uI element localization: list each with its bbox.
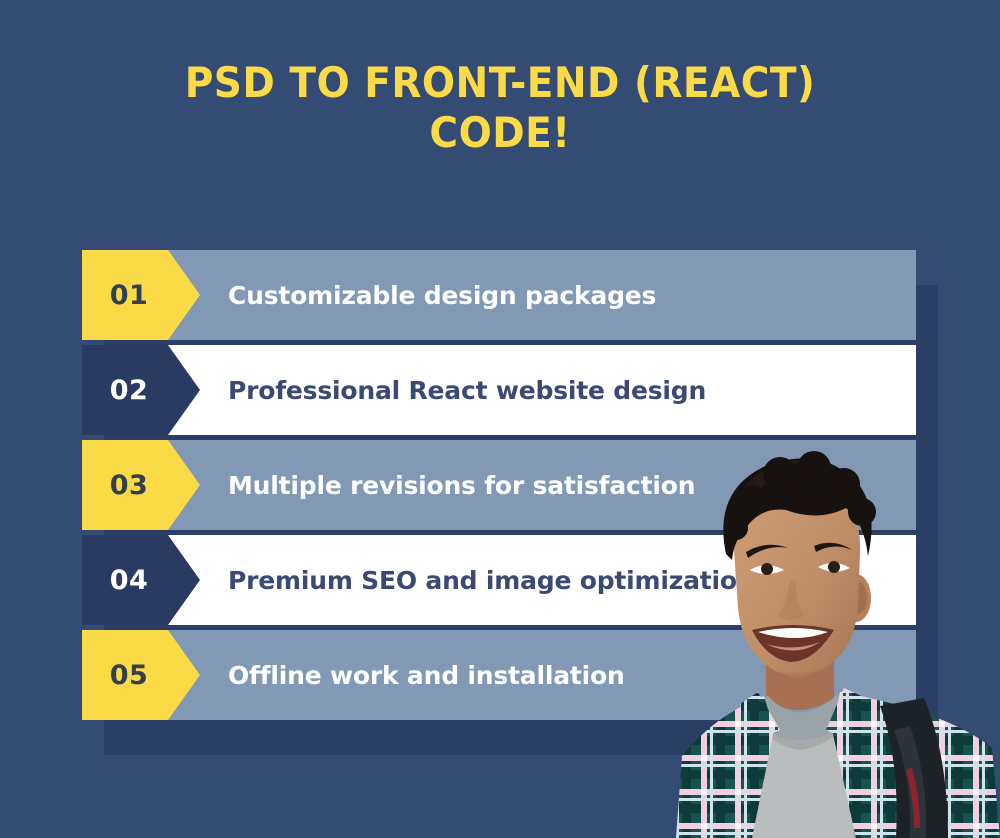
- list-item-label: Multiple revisions for satisfaction: [228, 471, 695, 500]
- list-item-label: Offline work and installation: [228, 661, 625, 690]
- list-item[interactable]: 04 Premium SEO and image optimization: [82, 535, 916, 625]
- list-item-number: 05: [110, 660, 149, 691]
- list-item-number: 03: [110, 470, 149, 501]
- list-item-label: Professional React website design: [228, 376, 706, 405]
- list-item-number: 02: [110, 375, 149, 406]
- infographic-poster: PSD TO FRONT-END (REACT) CODE! 01 Custom…: [0, 0, 1000, 838]
- page-title: PSD TO FRONT-END (REACT) CODE!: [0, 58, 1000, 158]
- title-line-1: PSD TO FRONT-END (REACT): [35, 58, 965, 108]
- feature-list: 01 Customizable design packages 02 Profe…: [82, 250, 916, 720]
- list-item-number: 01: [110, 280, 149, 311]
- list-item[interactable]: 02 Professional React website design: [82, 345, 916, 435]
- list-item[interactable]: 05 Offline work and installation: [82, 630, 916, 720]
- list-item-number: 04: [110, 565, 149, 596]
- list-item-label: Premium SEO and image optimization: [228, 566, 754, 595]
- list-item-label: Customizable design packages: [228, 281, 656, 310]
- title-line-2: CODE!: [35, 108, 965, 158]
- list-item[interactable]: 01 Customizable design packages: [82, 250, 916, 340]
- list-item[interactable]: 03 Multiple revisions for satisfaction: [82, 440, 916, 530]
